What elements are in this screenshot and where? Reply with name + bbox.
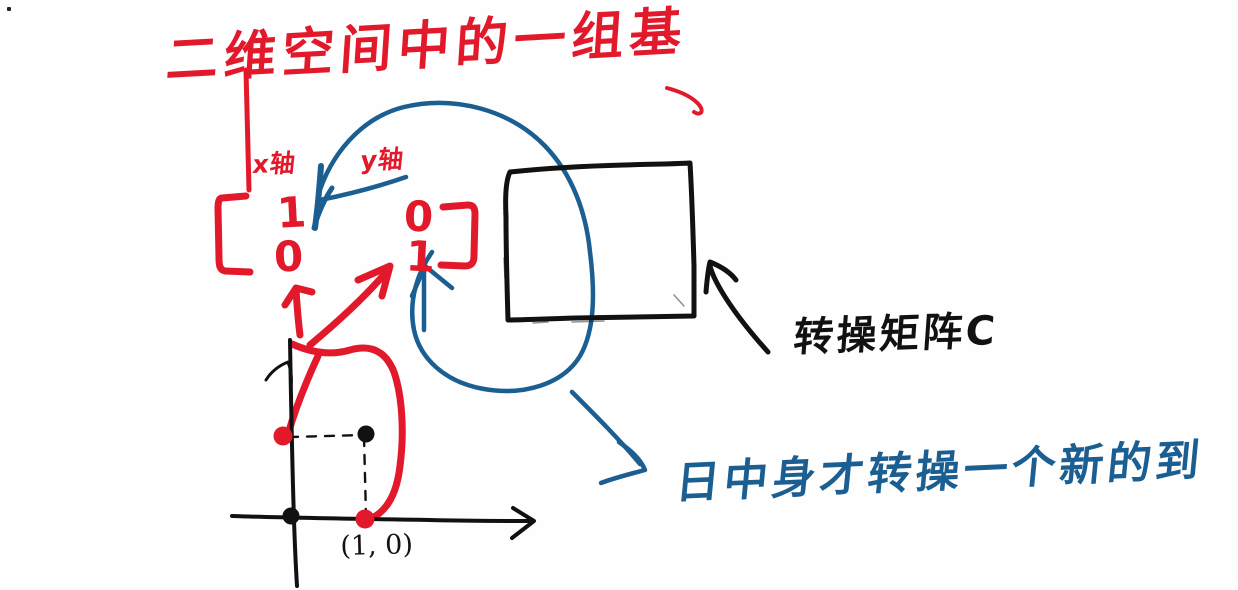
- plot-x-axis-arrowhead: [512, 508, 534, 538]
- plot-y-axis-arrowhead: [266, 362, 291, 386]
- dashed-guide-vertical: [364, 437, 366, 516]
- black-arrow-to-box: [710, 266, 768, 352]
- point-unit-y: [274, 427, 293, 446]
- red-title-tail-stroke: [246, 70, 249, 190]
- point-corner: [358, 426, 375, 443]
- matrix-c-box: [506, 163, 694, 320]
- blue-arrow-up-head: [412, 266, 452, 296]
- blue-arrow-down-right-head: [601, 442, 645, 483]
- matrix-left-bracket: [218, 196, 250, 272]
- red-title-flourish-stroke: [667, 88, 702, 114]
- plot-x-axis: [232, 516, 532, 521]
- red-arrow-up-left: [296, 290, 300, 335]
- matrix-right-bracket: [441, 205, 475, 266]
- point-unit-x: [356, 510, 375, 529]
- ink-strokes-layer: [0, 0, 1238, 590]
- whiteboard-canvas: 二维空间中的一组基 x轴 y轴 1 0 0 1 (1, 0) 转操矩阵C 日中身…: [0, 0, 1238, 590]
- point-origin: [283, 508, 300, 525]
- red-arrow-up-right: [310, 270, 388, 345]
- dashed-guide-horizontal: [289, 435, 365, 437]
- matrix-c-box-inner-tick-right: [674, 295, 684, 306]
